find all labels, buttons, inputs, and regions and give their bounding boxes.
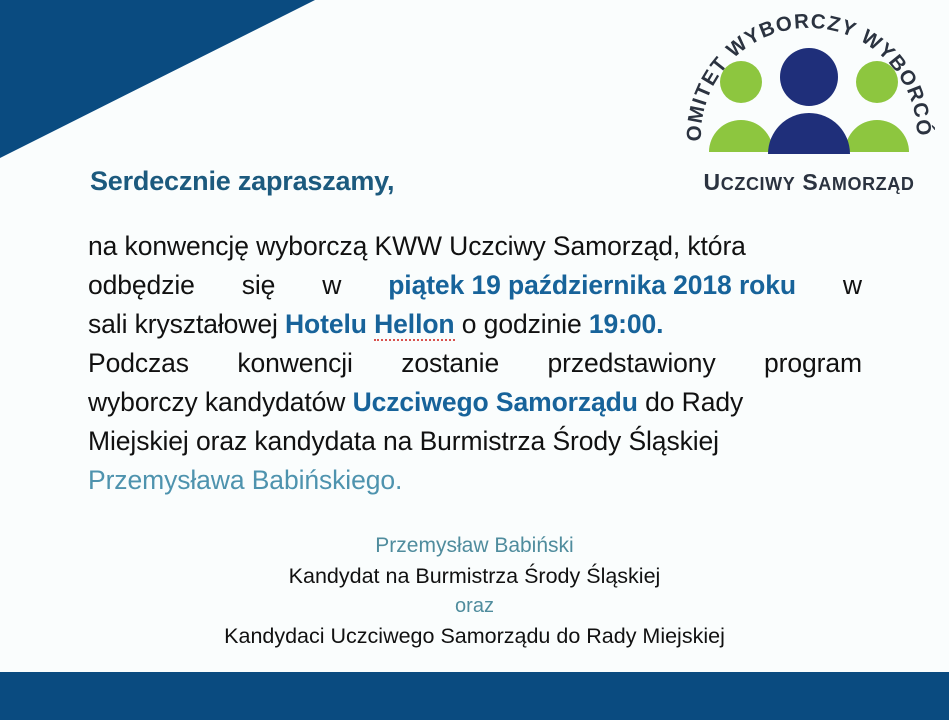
signature-group: Kandydaci Uczciwego Samorządu do Rady Mi… — [0, 621, 949, 651]
signature-role: Kandydat na Burmistrza Środy Śląskiej — [0, 561, 949, 591]
body-text: program — [764, 344, 862, 383]
invitation-poster: KOMITET WYBORCZY WYBORCÓW UCZCIWY SAMOR — [0, 0, 949, 720]
highlighted-text: Uczciwego Samorządu — [353, 387, 638, 417]
body-text: o godzinie — [455, 309, 589, 339]
misspelled-word: Hellon — [374, 309, 454, 341]
body-line: odbędziesięwpiątek 19 października 2018 … — [88, 266, 862, 305]
body-text: w — [322, 266, 341, 305]
svg-text:UCZCIWY SAMORZĄD: UCZCIWY SAMORZĄD — [704, 169, 915, 195]
body-text: zostanie — [401, 344, 499, 383]
signature-name: Przemysław Babiński — [0, 531, 949, 561]
body-text: przedstawiony — [548, 344, 716, 383]
body-line: na konwencję wyborczą KWW Uczciwy Samorz… — [88, 227, 862, 266]
body-line: Podczaskonwencjizostanieprzedstawionypro… — [88, 344, 862, 383]
body-line: Miejskiej oraz kandydata na Burmistrza Ś… — [88, 422, 862, 461]
body-text: w — [843, 266, 862, 305]
highlighted-text: Hotelu — [285, 309, 374, 339]
body-text: Miejskiej oraz kandydata na Burmistrza Ś… — [88, 426, 719, 456]
bottom-accent-bar — [0, 672, 949, 720]
person-navy-center-icon — [768, 48, 850, 154]
body-text: sali kryształowej — [88, 309, 285, 339]
decorative-corner-triangle — [0, 0, 315, 158]
committee-logo: KOMITET WYBORCZY WYBORCÓW UCZCIWY SAMOR — [683, 4, 935, 199]
headline: Serdecznie zapraszamy, — [90, 166, 394, 197]
body-text: Podczas — [88, 344, 189, 383]
highlighted-text: piątek 19 października 2018 roku — [388, 266, 796, 305]
body-text: konwencji — [237, 344, 352, 383]
body-text: na konwencję wyborczą KWW Uczciwy Samorz… — [88, 231, 746, 261]
signature-block: Przemysław Babiński Kandydat na Burmistr… — [0, 531, 949, 651]
highlighted-text: 19:00. — [589, 309, 664, 339]
logo-wordmark: UCZCIWY SAMORZĄD — [704, 169, 915, 195]
body-line: sali kryształowej Hotelu Hellon o godzin… — [88, 305, 862, 344]
body-text: wyborczy kandydatów — [88, 387, 353, 417]
invitation-body: na konwencję wyborczą KWW Uczciwy Samorz… — [88, 227, 862, 500]
body-text: odbędzie — [88, 266, 195, 305]
highlighted-text: Przemysława Babińskiego. — [88, 465, 402, 495]
body-line: wyborczy kandydatów Uczciwego Samorządu … — [88, 383, 862, 422]
body-text: do Rady — [638, 387, 743, 417]
body-line: Przemysława Babińskiego. — [88, 461, 862, 500]
signature-conjunction: oraz — [0, 591, 949, 621]
body-text: się — [242, 266, 276, 305]
